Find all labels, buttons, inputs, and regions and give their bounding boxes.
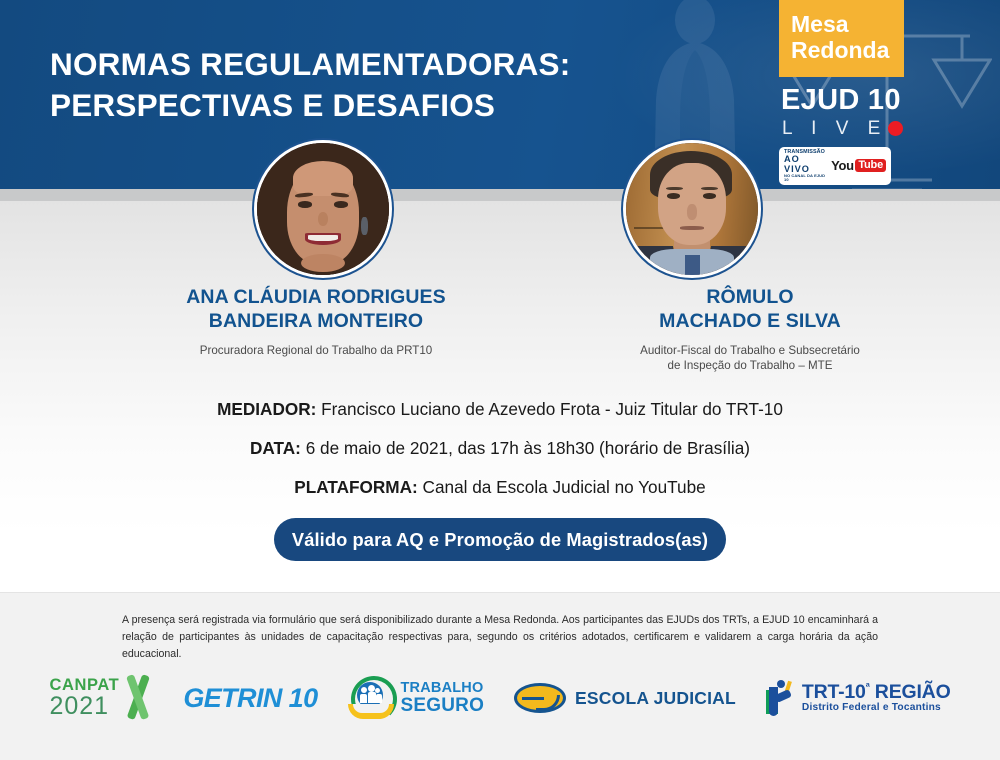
- speaker-2-role-line-2: de Inspeção do Trabalho – MTE: [540, 358, 960, 374]
- trt-10-line-1: TRT-10ª REGIÃO: [802, 682, 951, 702]
- ejud-label: EJUD 10: [779, 84, 904, 117]
- validity-button[interactable]: Válido para AQ e Promoção de Magistrados…: [274, 518, 726, 561]
- escola-judicial-icon: [514, 681, 566, 715]
- info-data-value: 6 de maio de 2021, das 17h às 18h30 (hor…: [306, 438, 750, 458]
- speaker-2-name-line-2: MACHADO E SILVA: [540, 309, 960, 333]
- header-divider: [0, 189, 1000, 201]
- trt-10-line-2: Distrito Federal e Tocantins: [802, 703, 951, 714]
- transmission-line-3: NO CANAL DA EJUD 10: [784, 174, 827, 182]
- canpat-line-1: CANPAT: [49, 677, 119, 694]
- portrait-ana-claudia: [257, 143, 389, 275]
- speaker-block-1: ANA CLÁUDIA RODRIGUES BANDEIRA MONTEIRO …: [90, 285, 542, 358]
- avatar-speaker-2: [623, 140, 761, 278]
- speaker-1-role-line-1: Procuradora Regional do Trabalho da PRT1…: [90, 343, 542, 359]
- info-mediador-label: MEDIADOR:: [217, 399, 316, 419]
- speaker-1-role: Procuradora Regional do Trabalho da PRT1…: [90, 343, 542, 359]
- info-plataforma-label: PLATAFORMA:: [294, 477, 417, 497]
- speaker-1-name-line-2: BANDEIRA MONTEIRO: [90, 309, 542, 333]
- event-poster: NORMAS REGULAMENTADORAS: PERSPECTIVAS E …: [0, 0, 1000, 760]
- youtube-logo-icon: You Tube: [831, 158, 886, 173]
- badge-redonda-text: Redonda: [779, 38, 904, 64]
- youtube-tube-text: Tube: [855, 159, 886, 172]
- poster-title: NORMAS REGULAMENTADORAS: PERSPECTIVAS E …: [50, 44, 690, 126]
- trt-10-name: TRT-10: [802, 681, 866, 703]
- trt-10-icon: [766, 678, 796, 718]
- speaker-2-name: RÔMULO MACHADO E SILVA: [540, 285, 960, 334]
- poster-header: NORMAS REGULAMENTADORAS: PERSPECTIVAS E …: [0, 0, 1000, 189]
- speaker-2-name-line-1: RÔMULO: [540, 285, 960, 309]
- badge-mesa-text: Mesa: [779, 12, 904, 38]
- logo-trabalho-seguro: TRABALHO SEGURO: [348, 676, 485, 720]
- escola-judicial-text: ESCOLA JUDICIAL: [575, 688, 736, 709]
- canpat-text: CANPAT 2021: [49, 677, 119, 720]
- speaker-2-role: Auditor-Fiscal do Trabalho e Subsecretár…: [540, 343, 960, 374]
- trabalho-seguro-line-1: TRABALHO: [401, 681, 485, 696]
- info-mediador: MEDIADOR: Francisco Luciano de Azevedo F…: [0, 399, 1000, 420]
- transmission-line-2: AO VIVO: [784, 155, 827, 173]
- logo-trt-10: TRT-10ª REGIÃO Distrito Federal e Tocant…: [766, 678, 951, 718]
- title-line-1: NORMAS REGULAMENTADORAS:: [50, 46, 570, 82]
- green-ribbon-icon: [123, 675, 153, 721]
- logo-escola-judicial: ESCOLA JUDICIAL: [514, 681, 736, 715]
- trabalho-seguro-icon: [348, 676, 394, 720]
- trt-10-regiao: REGIÃO: [870, 681, 951, 703]
- speaker-block-2: RÔMULO MACHADO E SILVA Auditor-Fiscal do…: [540, 285, 960, 374]
- youtube-you-text: You: [831, 158, 854, 173]
- logo-canpat: CANPAT 2021: [49, 675, 153, 721]
- speaker-2-role-line-1: Auditor-Fiscal do Trabalho e Subsecretár…: [540, 343, 960, 359]
- info-mediador-value: Francisco Luciano de Azevedo Frota - Jui…: [321, 399, 783, 419]
- footer-logos: CANPAT 2021 GETRIN 10: [0, 669, 1000, 727]
- trabalho-seguro-text: TRABALHO SEGURO: [401, 681, 485, 715]
- trt-10-text: TRT-10ª REGIÃO Distrito Federal e Tocant…: [802, 682, 951, 714]
- trabalho-seguro-line-2: SEGURO: [401, 696, 485, 715]
- youtube-transmission-badge[interactable]: TRANSMISSÃO AO VIVO NO CANAL DA EJUD 10 …: [779, 147, 891, 186]
- info-plataforma-value: Canal da Escola Judicial no YouTube: [423, 477, 706, 497]
- speaker-1-name: ANA CLÁUDIA RODRIGUES BANDEIRA MONTEIRO: [90, 285, 542, 334]
- event-badge: Mesa Redonda EJUD 10 L I V E TRANSMISSÃO…: [779, 0, 904, 185]
- live-dot-icon: [888, 121, 903, 136]
- getrin-text: GETRIN 10: [183, 683, 317, 714]
- transmission-text: TRANSMISSÃO AO VIVO NO CANAL DA EJUD 10: [784, 150, 827, 183]
- info-data-label: DATA:: [250, 438, 301, 458]
- footer-disclaimer: A presença será registrada via formulári…: [122, 612, 878, 663]
- live-indicator: L I V E: [779, 118, 904, 140]
- avatar-speaker-1: [254, 140, 392, 278]
- info-plataforma: PLATAFORMA: Canal da Escola Judicial no …: [0, 477, 1000, 498]
- portrait-romulo: [626, 143, 758, 275]
- mesa-redonda-badge: Mesa Redonda: [779, 0, 904, 77]
- canpat-line-2: 2021: [49, 694, 119, 719]
- info-data: DATA: 6 de maio de 2021, das 17h às 18h3…: [0, 438, 1000, 459]
- live-label: L I V E: [782, 118, 887, 140]
- speaker-1-name-line-1: ANA CLÁUDIA RODRIGUES: [90, 285, 542, 309]
- logo-getrin: GETRIN 10: [183, 683, 317, 714]
- title-line-2: PERSPECTIVAS E DESAFIOS: [50, 85, 690, 126]
- poster-footer: A presença será registrada via formulári…: [0, 592, 1000, 760]
